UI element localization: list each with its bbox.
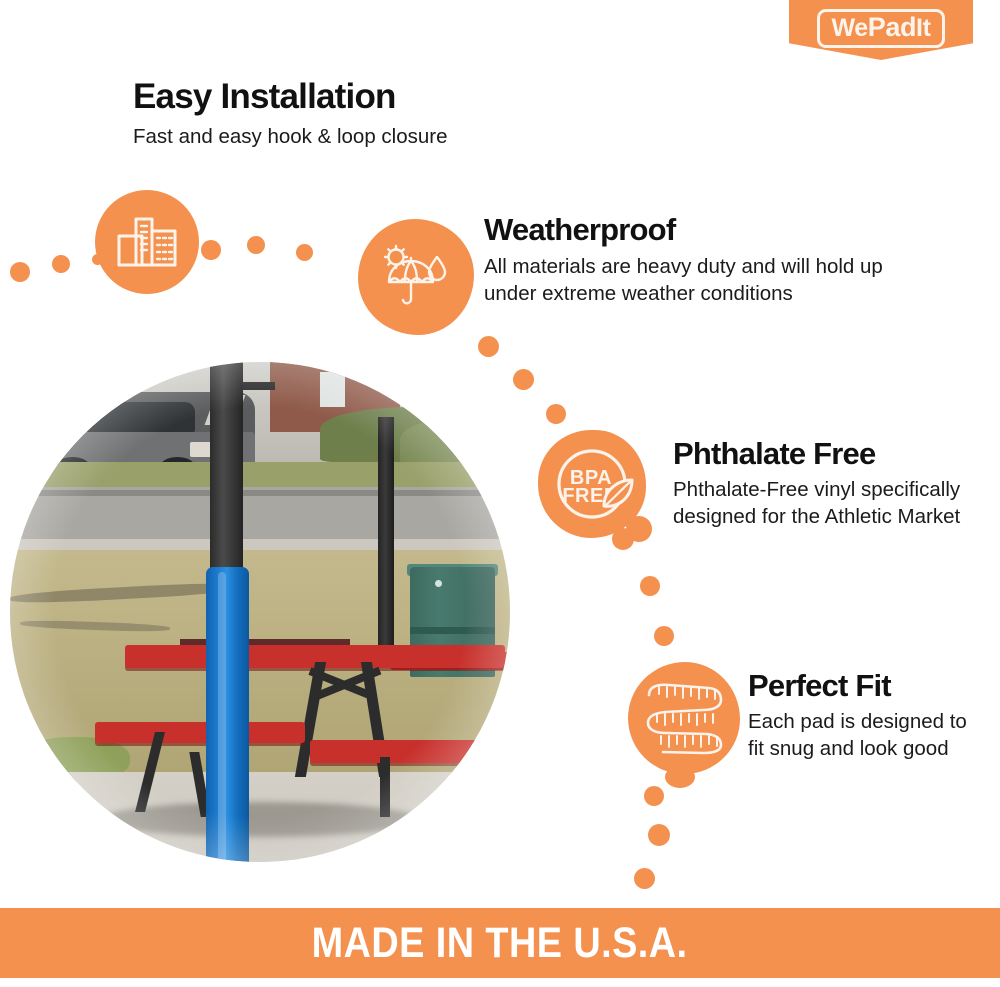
trail-dot xyxy=(513,369,534,390)
feature-title: Weatherproof xyxy=(484,214,904,245)
photo-vignette xyxy=(10,362,510,862)
trail-dot xyxy=(52,255,70,273)
feature-description: Each pad is designed to fit snug and loo… xyxy=(748,708,988,763)
trail-dot xyxy=(654,626,674,646)
trail-dot xyxy=(247,236,265,254)
measuring-tape-icon xyxy=(628,662,740,774)
infographic-canvas: WePadIt Easy Installation Fast and easy … xyxy=(0,0,1000,987)
feature-title: Easy Installation xyxy=(133,79,448,114)
made-in-usa-text: MADE IN THE U.S.A. xyxy=(312,919,688,968)
logo-text-it: It xyxy=(916,14,930,42)
trail-dot xyxy=(640,576,660,596)
feature-description: Fast and easy hook & loop closure xyxy=(133,123,448,150)
logo-frame: WePadIt xyxy=(817,9,944,48)
feature-block-easy-installation: Easy Installation Fast and easy hook & l… xyxy=(133,79,448,150)
feature-title: Phthalate Free xyxy=(673,438,973,469)
feature-block-weatherproof: Weatherproof All materials are heavy dut… xyxy=(484,214,904,308)
trail-dot xyxy=(92,254,103,265)
feature-description: All materials are heavy duty and will ho… xyxy=(484,253,904,308)
brand-logo-badge[interactable]: WePadIt xyxy=(789,0,973,60)
trail-dot xyxy=(478,336,499,357)
logo-text-pad: Pad xyxy=(868,12,916,42)
trail-dot xyxy=(546,404,566,424)
bpa-free-leaf-icon: BPA FREE xyxy=(538,430,646,538)
feature-description: Phthalate-Free vinyl specifically design… xyxy=(673,476,973,531)
building-icon xyxy=(95,190,199,294)
trail-dot xyxy=(634,868,655,889)
product-photo xyxy=(10,362,510,862)
trail-dot xyxy=(201,240,221,260)
made-in-usa-banner: MADE IN THE U.S.A. xyxy=(0,908,1000,978)
trail-dot xyxy=(296,244,313,261)
umbrella-sun-raindrop-icon xyxy=(358,219,474,335)
logo-text-we: We xyxy=(831,14,867,42)
feature-block-perfect-fit: Perfect Fit Each pad is designed to fit … xyxy=(748,670,988,763)
trail-dot xyxy=(648,824,670,846)
feature-title: Perfect Fit xyxy=(748,670,988,701)
trail-dot xyxy=(612,528,634,550)
logo-text: WePadIt xyxy=(831,14,930,41)
trail-dot xyxy=(10,262,30,282)
feature-block-phthalate-free: Phthalate Free Phthalate-Free vinyl spec… xyxy=(673,438,973,531)
trail-dot xyxy=(644,786,664,806)
